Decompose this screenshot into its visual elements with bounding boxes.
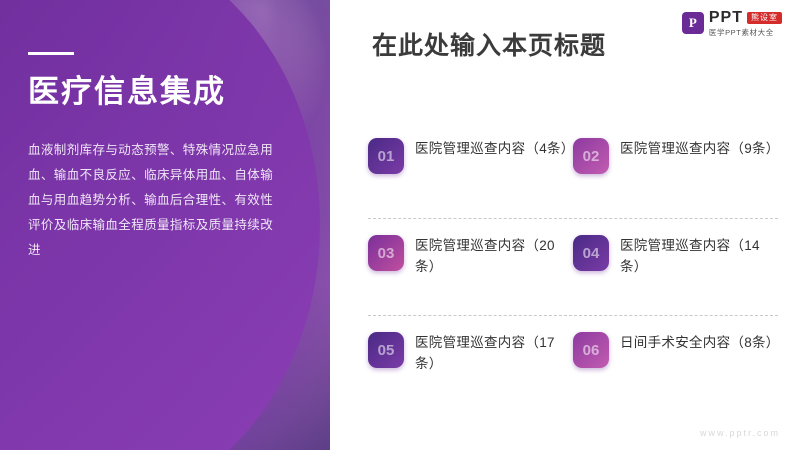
left-body-text: 血液制剂库存与动态预警、特殊情况应急用血、输血不良反应、临床异体用血、自体输血与… [28,138,283,263]
item-row: 05 医院管理巡查内容（17条） 06 日间手术安全内容（8条） [368,315,778,412]
list-item[interactable]: 03 医院管理巡查内容（20条） [368,219,573,278]
item-label: 日间手术安全内容（8条） [620,332,778,354]
watermark: www.pptr.com [700,428,780,438]
title-rule [28,52,74,55]
logo-tag: 熊设室 [747,12,782,24]
list-item[interactable]: 05 医院管理巡查内容（17条） [368,316,573,375]
item-label: 医院管理巡查内容（4条） [415,138,573,160]
item-label: 医院管理巡查内容（17条） [415,332,573,375]
item-number-badge: 03 [368,235,404,271]
logo-subtitle: 医学PPT素材大全 [709,29,782,37]
item-row: 03 医院管理巡查内容（20条） 04 医院管理巡查内容（14条） [368,218,778,315]
slide: 医疗信息集成 血液制剂库存与动态预警、特殊情况应急用血、输血不良反应、临床异体用… [0,0,800,450]
item-number-badge: 04 [573,235,609,271]
items-grid: 01 医院管理巡查内容（4条） 02 医院管理巡查内容（9条） 03 医院管理巡… [368,122,778,412]
item-label: 医院管理巡查内容（14条） [620,235,778,278]
item-number-badge: 05 [368,332,404,368]
item-label: 医院管理巡查内容（9条） [620,138,778,160]
logo-text: PPT 熊设室 医学PPT素材大全 [709,10,782,37]
list-item[interactable]: 04 医院管理巡查内容（14条） [573,219,778,278]
left-panel: 医疗信息集成 血液制剂库存与动态预警、特殊情况应急用血、输血不良反应、临床异体用… [0,0,330,450]
item-row: 01 医院管理巡查内容（4条） 02 医院管理巡查内容（9条） [368,122,778,218]
page-title: 在此处输入本页标题 [372,26,606,62]
left-title: 医疗信息集成 [28,73,283,112]
left-content: 医疗信息集成 血液制剂库存与动态预警、特殊情况应急用血、输血不良反应、临床异体用… [28,52,283,263]
list-item[interactable]: 01 医院管理巡查内容（4条） [368,122,573,174]
item-label: 医院管理巡查内容（20条） [415,235,573,278]
logo-row: PPT 熊设室 [709,10,782,26]
item-number-badge: 06 [573,332,609,368]
logo-badge-icon: P [682,12,704,34]
logo-name: PPT [709,10,743,26]
list-item[interactable]: 06 日间手术安全内容（8条） [573,316,778,368]
item-number-badge: 01 [368,138,404,174]
item-number-badge: 02 [573,138,609,174]
brand-logo: P PPT 熊设室 医学PPT素材大全 [682,10,782,37]
list-item[interactable]: 02 医院管理巡查内容（9条） [573,122,778,174]
